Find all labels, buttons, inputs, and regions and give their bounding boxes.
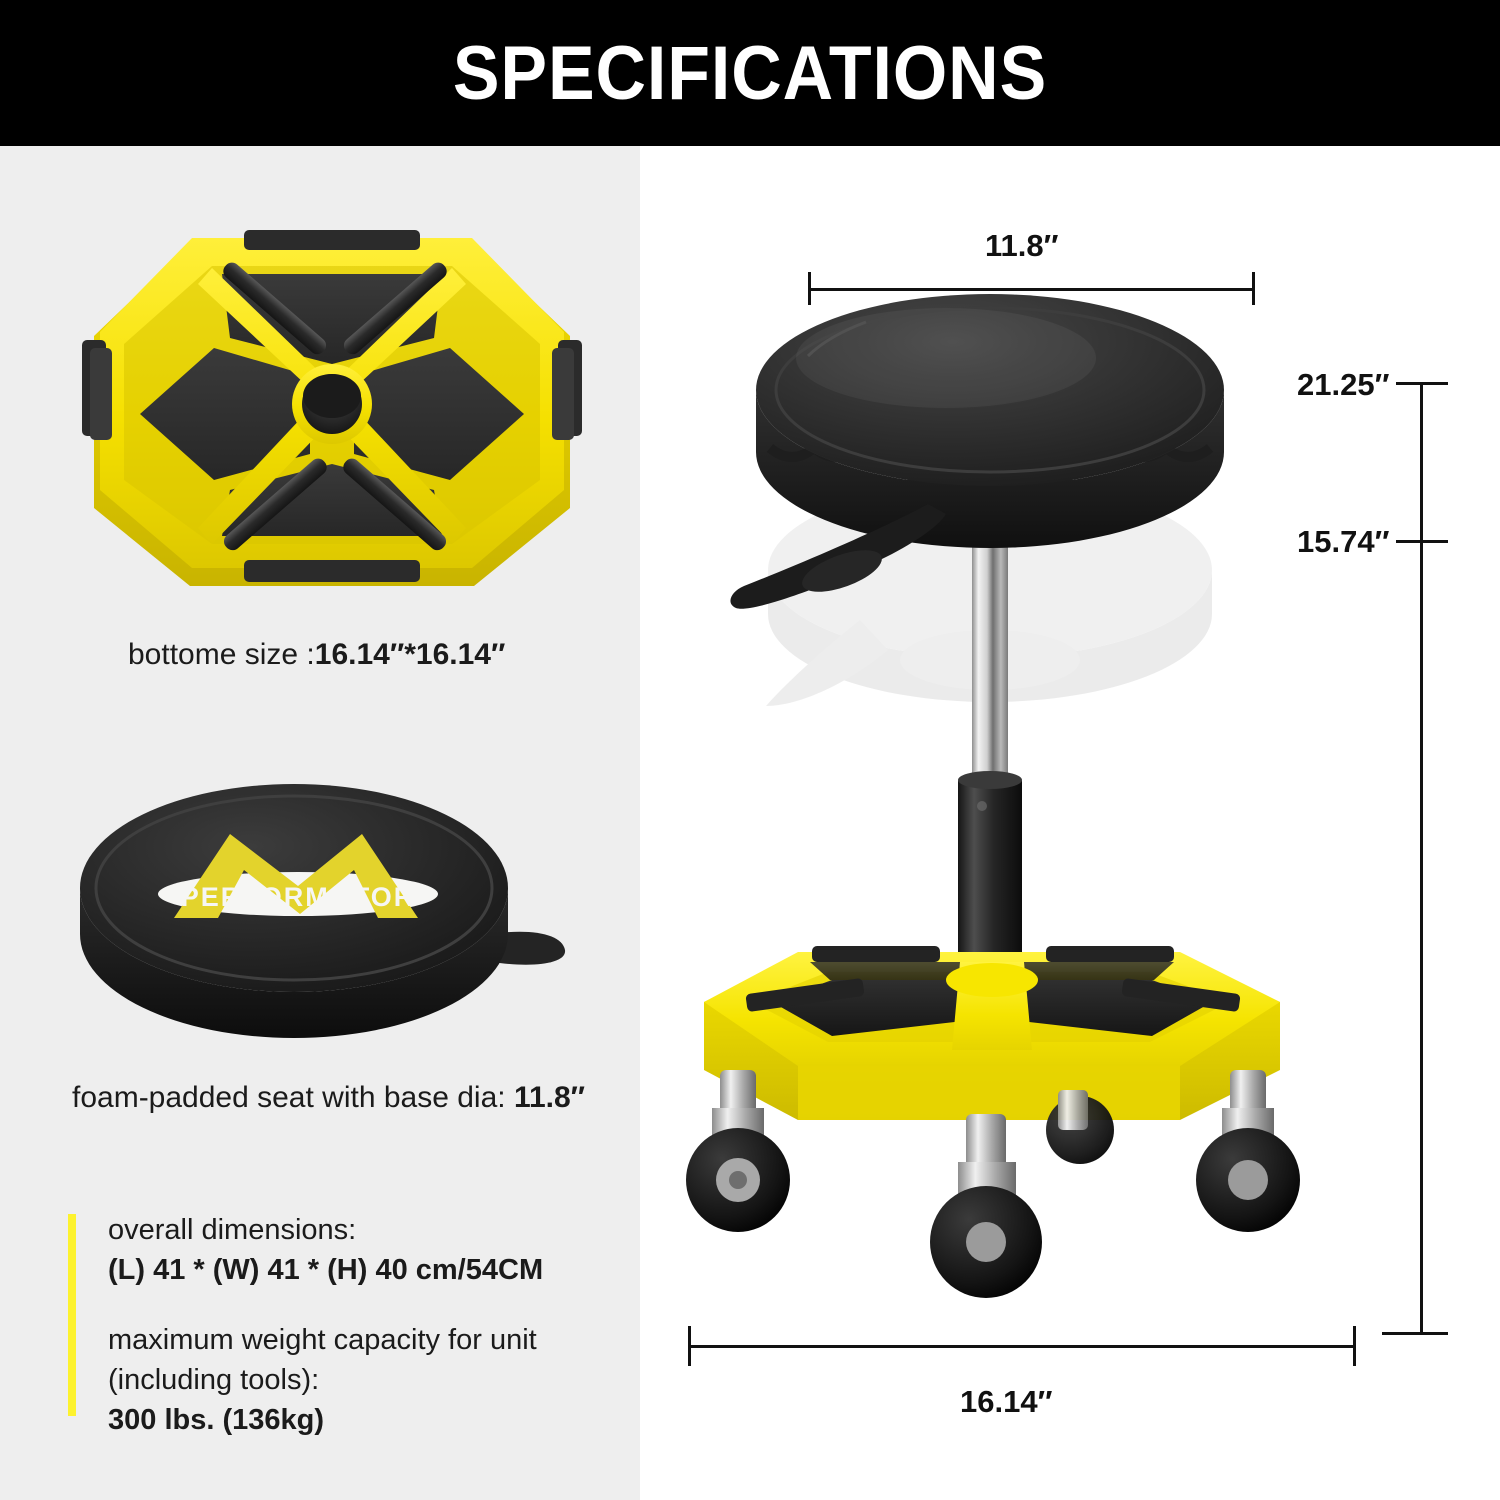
base-size-caption: bottome size :16.14″*16.14″ (128, 638, 505, 672)
caster-center (930, 1114, 1042, 1298)
dim-line-seat-diameter (808, 288, 1255, 291)
seat-illustration: PERFORMOTOR (62, 738, 602, 1038)
dim-label-max-height: 21.25″ (1297, 367, 1389, 403)
weight-capacity-value: 300 lbs. (136kg) (108, 1400, 628, 1440)
dim-cap-height-bottom (1382, 1332, 1448, 1335)
base-size-value: 16.14″*16.14″ (315, 638, 506, 671)
dim-cap-base-width-left (688, 1326, 691, 1366)
stool-illustration (660, 190, 1360, 1310)
seat-figure: PERFORMOTOR (62, 738, 602, 1038)
yellow-accent-bar (68, 1214, 76, 1416)
base-tray-figure (62, 208, 602, 618)
dim-label-seat-diameter: 11.8″ (985, 228, 1058, 264)
overall-dimensions-value: (L) 41 * (W) 41 * (H) 40 cm/54CM (108, 1250, 628, 1290)
dim-line-height (1420, 382, 1423, 1335)
left-panel: bottome size :16.14″*16.14″ (0, 146, 640, 1500)
seat-dia-prefix: foam-padded seat with base dia: (72, 1081, 514, 1114)
weight-capacity-label: maximum weight capacity for unit (includ… (108, 1320, 628, 1400)
dim-label-base-width: 16.14″ (960, 1384, 1052, 1420)
header-bar: SPECIFICATIONS (0, 0, 1500, 146)
overall-dimensions-label: overall dimensions: (108, 1210, 628, 1250)
dim-cap-max-height (1396, 382, 1448, 385)
base-tray-illustration (62, 208, 602, 618)
stool-figure (660, 190, 1360, 1310)
yellow-base-tray (704, 946, 1280, 1120)
dim-cap-seat-diameter-right (1252, 272, 1255, 305)
dim-cap-min-height (1396, 540, 1448, 543)
seat-logo-text: PERFORMOTOR (181, 882, 416, 912)
dim-line-base-width (688, 1345, 1356, 1348)
dim-cap-base-width-right (1353, 1326, 1356, 1366)
dim-cap-seat-diameter-left (808, 272, 811, 305)
dim-label-min-height: 15.74″ (1297, 524, 1389, 560)
base-size-prefix: bottome size : (128, 638, 315, 671)
page-title: SPECIFICATIONS (453, 30, 1047, 117)
seat-dia-caption: foam-padded seat with base dia: 11.8″ (72, 1081, 585, 1115)
seat-dia-value: 11.8″ (514, 1081, 585, 1114)
